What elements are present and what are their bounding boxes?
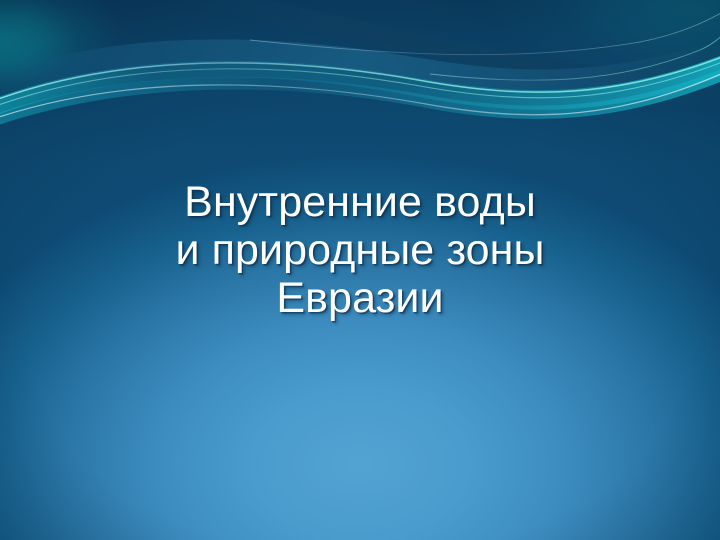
filament-pale-primary xyxy=(0,70,720,120)
title-line-2: и природные зоны xyxy=(58,226,662,274)
filament-cyan-upper-right xyxy=(430,24,720,80)
title-line-1: Внутренние воды xyxy=(58,178,662,226)
decorative-swoosh-graphic xyxy=(0,0,720,140)
slide-title: Внутренние воды и природные зоны Евразии xyxy=(58,178,662,322)
filament-cyan-secondary xyxy=(0,59,720,108)
ribbon-teal-main xyxy=(0,52,720,118)
filament-cyan-primary xyxy=(0,54,720,102)
filament-pale-upper xyxy=(250,8,720,55)
ribbon-navy-upper xyxy=(170,0,700,96)
presentation-slide: Внутренние воды и природные зоны Евразии xyxy=(0,0,720,540)
ribbon-navy-main xyxy=(0,36,720,104)
ribbon-teal-secondary xyxy=(0,66,720,128)
title-line-3: Евразии xyxy=(58,274,662,322)
